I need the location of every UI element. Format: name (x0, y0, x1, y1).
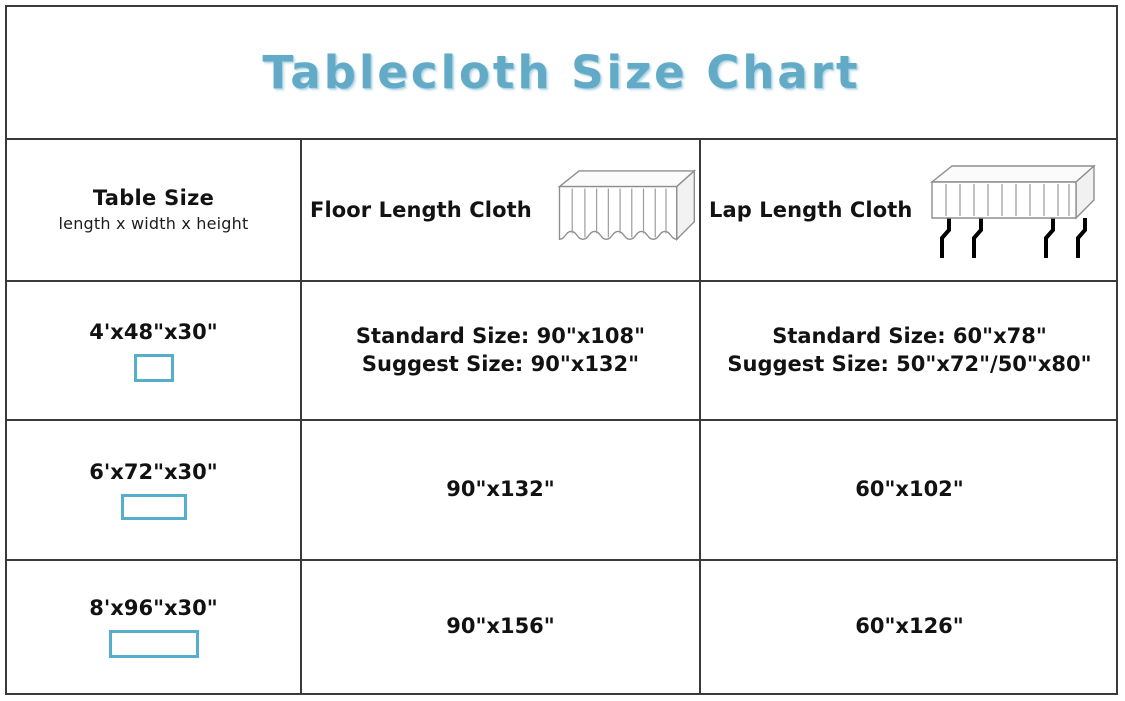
header-floor-length-cloth: Floor Length Cloth (302, 140, 699, 280)
floor-standard-size: Standard Size: 90"x108" (356, 323, 645, 350)
floor-length-cell: 90"x156" (302, 561, 699, 693)
lap-length-size: 60"x126" (855, 613, 964, 640)
floor-suggest-size: Suggest Size: 90"x132" (356, 351, 645, 378)
table-size-value: 4'x48"x30" (89, 320, 217, 344)
table-row: 8'x96"x30" (7, 561, 300, 693)
lap-length-cloth-illustration (918, 160, 1108, 260)
table-row: 4'x48"x30" (7, 282, 300, 419)
lap-length-cell: Standard Size: 60"x78" Suggest Size: 50"… (701, 282, 1118, 419)
lap-length-cell: 60"x102" (701, 421, 1118, 559)
lap-standard-size: Standard Size: 60"x78" (727, 323, 1091, 350)
floor-length-sizes: Standard Size: 90"x108" Suggest Size: 90… (356, 323, 645, 378)
title-band: Tablecloth Size Chart (7, 7, 1116, 138)
lap-suggest-size: Suggest Size: 50"x72"/50"x80" (727, 351, 1091, 378)
floor-length-size: 90"x132" (446, 476, 555, 503)
page-title: Tablecloth Size Chart (263, 46, 861, 99)
floor-length-cell: 90"x132" (302, 421, 699, 559)
lap-length-size: 60"x102" (855, 476, 964, 503)
table-shape-indicator (121, 494, 187, 520)
chart-frame: Tablecloth Size Chart Table Size length … (5, 5, 1118, 695)
header-table-size-subtitle: length x width x height (59, 214, 249, 234)
header-floor-length-label: Floor Length Cloth (310, 198, 532, 222)
header-table-size-title: Table Size (93, 186, 214, 212)
table-row: 6'x72"x30" (7, 421, 300, 559)
table-shape-indicator (134, 354, 174, 382)
header-lap-length-cloth: Lap Length Cloth (701, 140, 1118, 280)
table-size-value: 6'x72"x30" (89, 460, 217, 484)
header-table-size: Table Size length x width x height (7, 140, 300, 280)
table-shape-indicator (109, 630, 199, 658)
lap-length-cell: 60"x126" (701, 561, 1118, 693)
floor-length-cell: Standard Size: 90"x108" Suggest Size: 90… (302, 282, 699, 419)
lap-length-sizes: Standard Size: 60"x78" Suggest Size: 50"… (727, 323, 1091, 378)
floor-length-cloth-illustration (538, 164, 699, 256)
header-lap-length-label: Lap Length Cloth (709, 198, 912, 222)
tablecloth-size-chart-page: Tablecloth Size Chart Table Size length … (0, 0, 1125, 701)
table-size-value: 8'x96"x30" (89, 596, 217, 620)
floor-length-size: 90"x156" (446, 613, 555, 640)
